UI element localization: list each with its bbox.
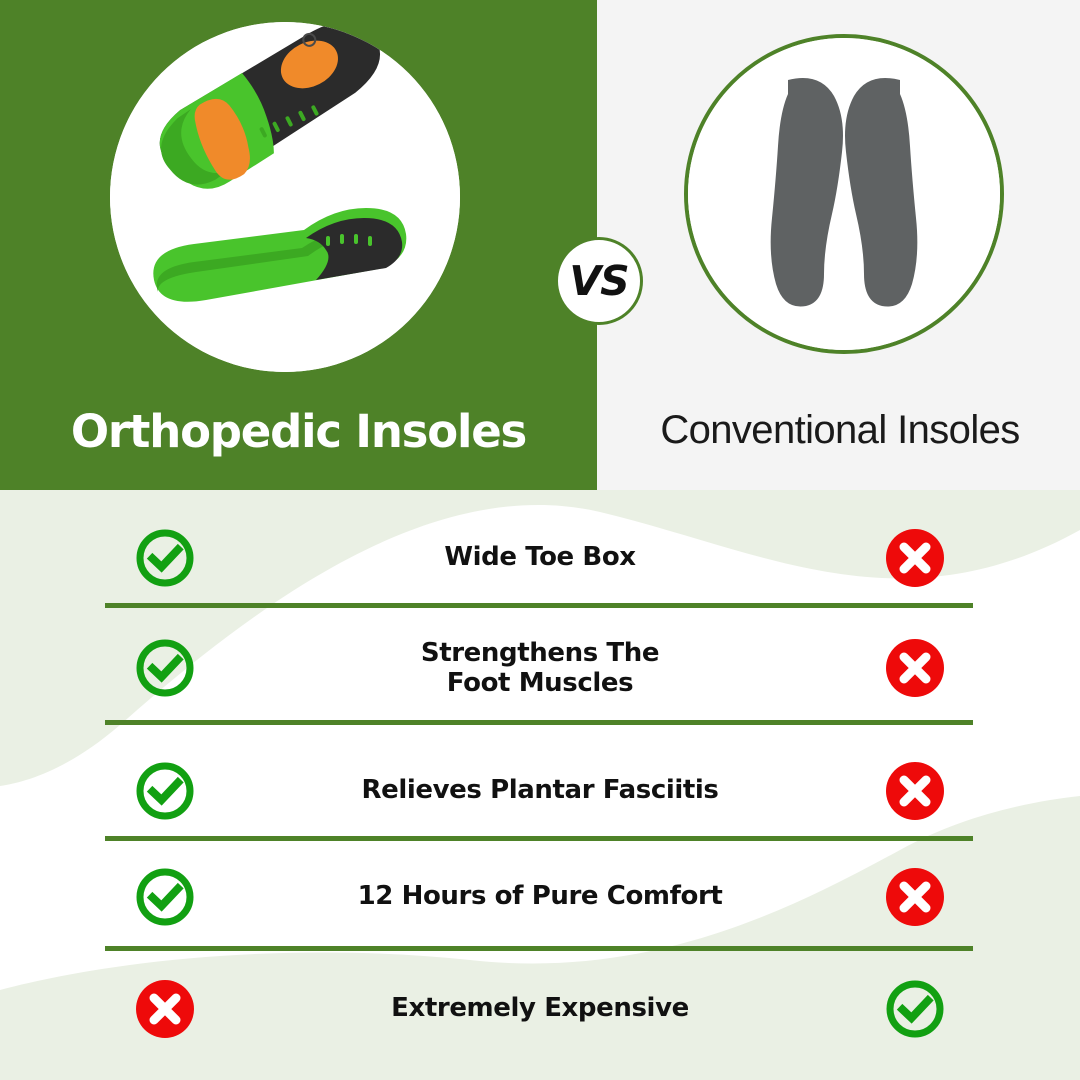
hero-section: VS Orthopedic Insoles Conventional Insol… (0, 0, 1080, 490)
check-circle-icon (134, 527, 196, 589)
cross-circle-icon (884, 527, 946, 589)
row-4-left-status (0, 866, 330, 928)
hero-title-conventional: Conventional Insoles (600, 408, 1080, 453)
row-3-right-status (750, 760, 1080, 822)
conventional-insole-image (684, 34, 1004, 354)
table-row: 12 Hours of Pure Comfort (0, 854, 1080, 939)
row-1-label: Wide Toe Box (330, 542, 750, 572)
row-divider (105, 720, 973, 725)
check-circle-icon (134, 760, 196, 822)
row-3-left-status (0, 760, 330, 822)
row-2-left-status (0, 637, 330, 699)
comparison-table: Wide Toe Box Strengthens The Fo (0, 490, 1080, 1080)
table-row: Relieves Plantar Fasciitis (0, 748, 1080, 833)
row-2-label: Strengthens The Foot Muscles (330, 638, 750, 698)
row-5-right-status (750, 978, 1080, 1040)
row-4-label: 12 Hours of Pure Comfort (330, 881, 750, 911)
table-row: Strengthens The Foot Muscles (0, 618, 1080, 718)
orthopedic-insole-image (110, 22, 460, 372)
row-1-left-status (0, 527, 330, 589)
table-row: Extremely Expensive (0, 966, 1080, 1051)
cross-circle-icon (884, 866, 946, 928)
row-divider (105, 946, 973, 951)
vs-badge: VS (555, 237, 643, 325)
row-4-right-status (750, 866, 1080, 928)
check-circle-icon (134, 637, 196, 699)
vs-label: VS (569, 257, 628, 305)
row-5-left-status (0, 978, 330, 1040)
table-row: Wide Toe Box (0, 515, 1080, 600)
row-1-right-status (750, 527, 1080, 589)
row-2-right-status (750, 637, 1080, 699)
hero-title-orthopedic: Orthopedic Insoles (0, 405, 597, 458)
row-divider (105, 603, 973, 608)
cross-circle-icon (884, 760, 946, 822)
row-divider (105, 836, 973, 841)
check-circle-icon (134, 866, 196, 928)
comparison-rows: Wide Toe Box Strengthens The Fo (0, 490, 1080, 1080)
cross-circle-icon (134, 978, 196, 1040)
row-5-label: Extremely Expensive (330, 993, 750, 1023)
comparison-infographic: VS Orthopedic Insoles Conventional Insol… (0, 0, 1080, 1080)
row-3-label: Relieves Plantar Fasciitis (330, 775, 750, 805)
cross-circle-icon (884, 637, 946, 699)
check-circle-icon (884, 978, 946, 1040)
